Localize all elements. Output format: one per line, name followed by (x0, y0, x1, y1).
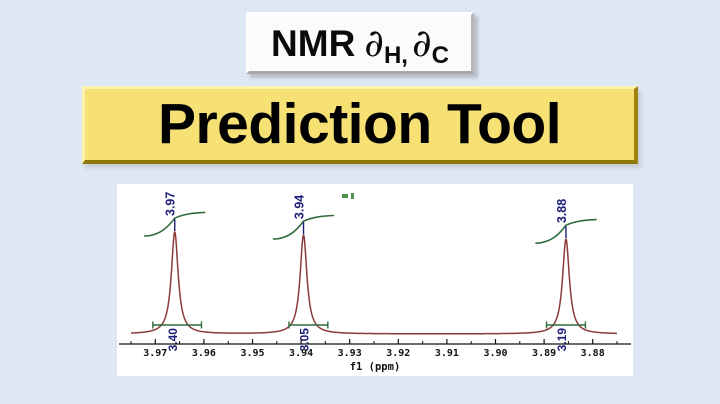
partial-derivative-h-symbol: ∂ (364, 24, 384, 62)
peak-label: 3.94 (293, 195, 307, 219)
nmr-spectrum-chart: 3.973.943.88 3.403.053.19 3.973.963.953.… (117, 184, 633, 376)
integral-label: 3.19 (555, 328, 569, 352)
subscript-h-label: H (384, 44, 401, 68)
x-axis-tick-label: 3.89 (532, 348, 556, 359)
x-axis-tick-label: 3.96 (192, 348, 216, 359)
comma-separator: , (401, 44, 408, 68)
peak-label: 3.97 (164, 192, 178, 216)
x-axis-tick-label: 3.91 (435, 348, 459, 359)
banner-title-label: Prediction Tool (158, 96, 561, 153)
x-axis-tick-label: 3.95 (240, 348, 264, 359)
prediction-tool-banner: Prediction Tool (82, 86, 638, 164)
x-axis-tick-label: 3.94 (289, 348, 313, 359)
x-axis-tick-label: 3.97 (143, 348, 167, 359)
x-axis-tick-label: 3.92 (386, 348, 410, 359)
peak-label: 3.88 (555, 199, 569, 223)
x-axis-tick-label: 3.90 (483, 348, 507, 359)
nmr-title-text: NMR ∂ H , ∂ C (271, 24, 449, 62)
partial-derivative-c-symbol: ∂ (412, 24, 432, 62)
x-axis-tick-label: 3.88 (581, 348, 605, 359)
nmr-spectrum-panel: 3.973.943.88 3.403.053.19 3.973.963.953.… (117, 184, 633, 376)
nmr-title-plaque: NMR ∂ H , ∂ C (246, 12, 474, 74)
x-axis-tick-label: 3.93 (338, 348, 362, 359)
subscript-c-label: C (432, 44, 449, 68)
nmr-prefix-label: NMR (271, 25, 355, 62)
integral-label: 3.40 (166, 328, 180, 352)
x-axis-title: f1 (ppm) (350, 361, 401, 373)
